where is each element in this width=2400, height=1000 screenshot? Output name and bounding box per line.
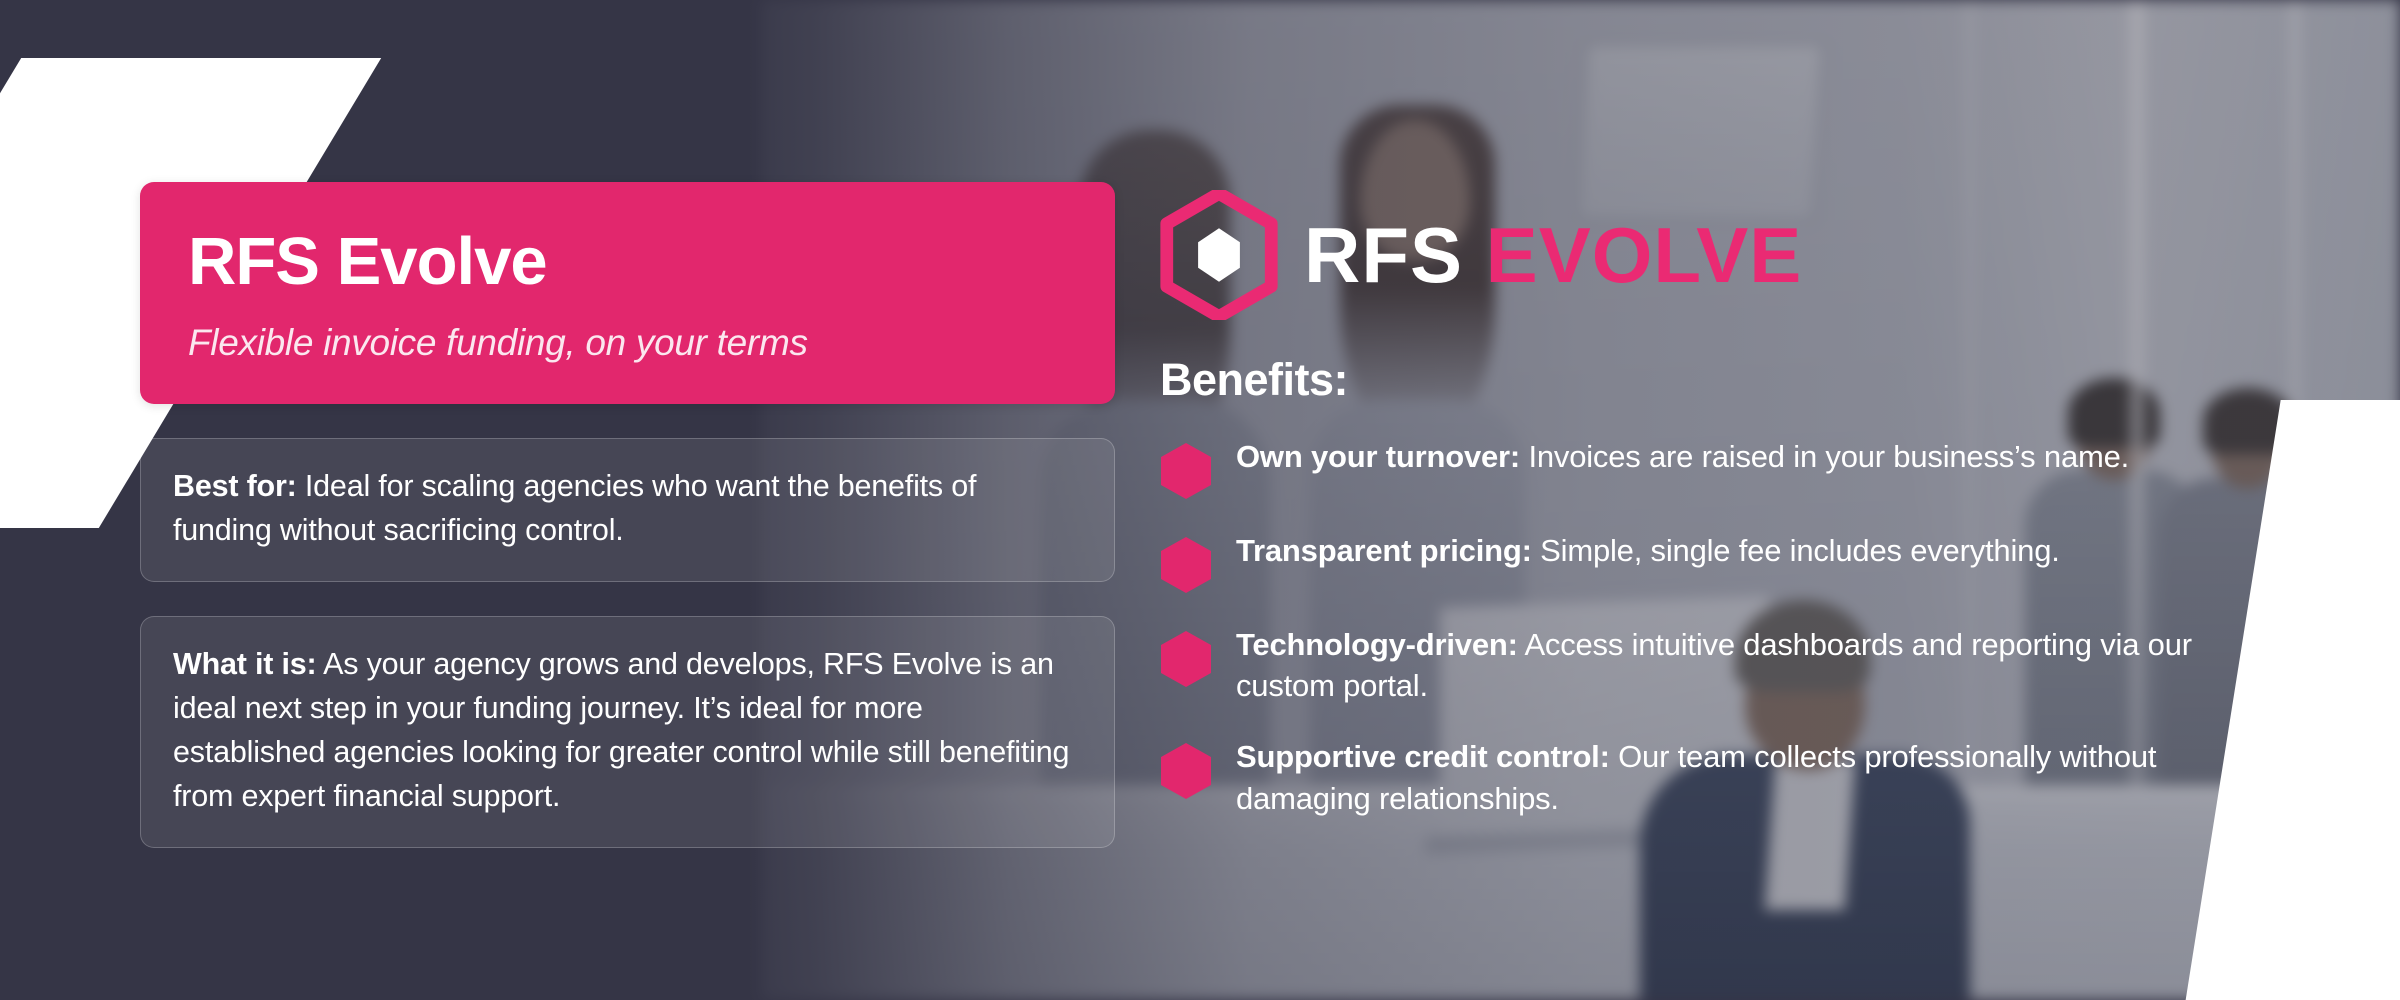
page-subtitle: Flexible invoice funding, on your terms (188, 322, 1115, 364)
brand-word-rfs: RFS (1304, 211, 1463, 299)
benefit-label: Supportive credit control: (1236, 739, 1610, 774)
benefit-item: Transparent pricing: Simple, single fee … (1160, 530, 2320, 594)
benefit-item: Supportive credit control: Our team coll… (1160, 736, 2320, 818)
title-card: RFS Evolve Flexible invoice funding, on … (140, 182, 1115, 404)
benefits-heading: Benefits: (1160, 354, 2320, 406)
hexagon-bullet-icon (1160, 442, 1212, 500)
page-title: RFS Evolve (188, 228, 1115, 296)
brand-word-evolve: EVOLVE (1486, 211, 1803, 299)
benefit-item: Own your turnover: Invoices are raised i… (1160, 436, 2320, 500)
benefit-text: Supportive credit control: Our team coll… (1236, 736, 2246, 818)
info-card-label: What it is: (173, 647, 317, 681)
benefit-text: Transparent pricing: Simple, single fee … (1236, 530, 2060, 571)
benefit-item: Technology-driven: Access intuitive dash… (1160, 624, 2320, 706)
hexagon-bullet-icon (1160, 536, 1212, 594)
info-card-label: Best for: (173, 469, 297, 503)
hexagon-bullet-icon (1160, 630, 1212, 688)
info-card-what-it-is: What it is: As your agency grows and dev… (140, 616, 1115, 848)
right-content-column: RFS EVOLVE Benefits: Own your turnover: … (1160, 190, 2320, 819)
brand-logo: RFS EVOLVE (1160, 190, 2320, 320)
benefit-label: Own your turnover: (1236, 439, 1520, 474)
benefit-text: Own your turnover: Invoices are raised i… (1236, 436, 2129, 477)
info-card-best-for: Best for: Ideal for scaling agencies who… (140, 438, 1115, 582)
benefit-label: Technology-driven: (1236, 627, 1518, 662)
left-content-column: RFS Evolve Flexible invoice funding, on … (140, 182, 1115, 848)
benefit-body: Invoices are raised in your business’s n… (1528, 439, 2129, 474)
hexagon-bullet-icon (1160, 742, 1212, 800)
benefit-body: Simple, single fee includes everything. (1540, 533, 2060, 568)
benefit-text: Technology-driven: Access intuitive dash… (1236, 624, 2246, 706)
brand-wordmark: RFS EVOLVE (1304, 216, 1802, 294)
rfs-hexagon-logo-icon (1160, 190, 1278, 320)
benefit-label: Transparent pricing: (1236, 533, 1532, 568)
slide-root: RFS Evolve Flexible invoice funding, on … (0, 0, 2400, 1000)
